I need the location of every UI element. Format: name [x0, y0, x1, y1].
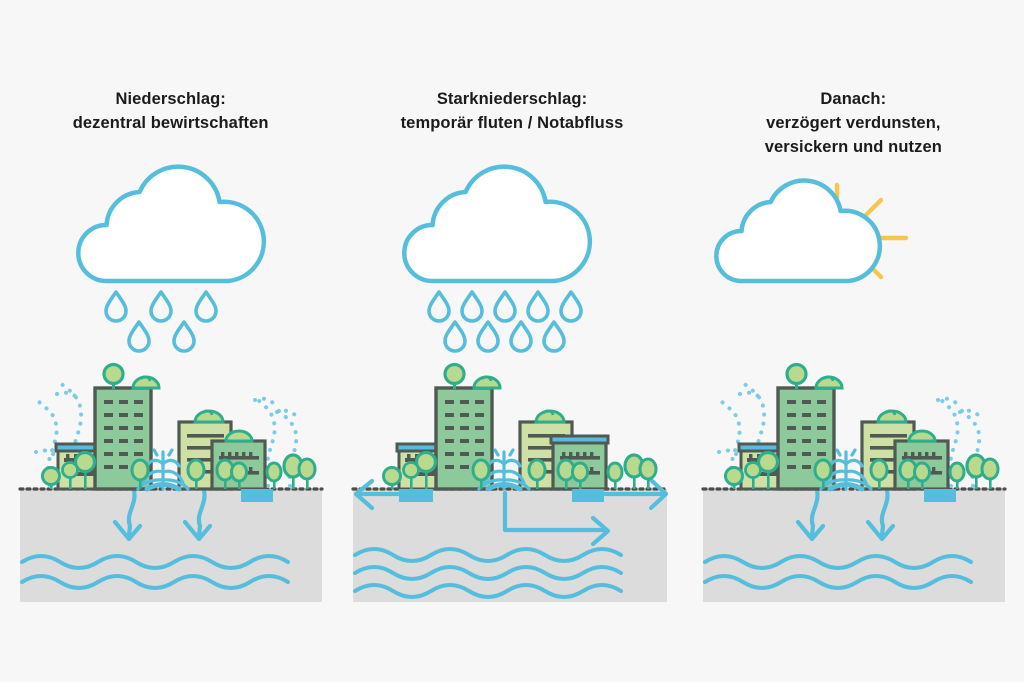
raindrops-top — [106, 292, 216, 321]
scene-precipitation — [0, 0, 341, 682]
rooftop-tree — [104, 364, 123, 388]
rooftop-tree — [445, 364, 464, 388]
heavy-rain-cloud-icon — [405, 167, 591, 281]
raindrops-bottom — [445, 322, 564, 351]
cloud-icon — [716, 181, 880, 281]
tree — [982, 459, 998, 489]
cistern-basin — [924, 489, 956, 502]
flood-basin-left — [399, 489, 433, 502]
scene-svg-2 — [341, 0, 682, 682]
pale-mid-rooftop-bush — [536, 411, 564, 422]
green-right-rooftop-bush — [909, 431, 935, 441]
pale-mid-rooftop-bush — [195, 411, 223, 422]
green-right-rooftop-bush — [226, 431, 252, 441]
scene-svg-1 — [0, 0, 341, 682]
rooftop-tree — [787, 364, 806, 388]
rooftop-bush — [816, 377, 842, 388]
scene-heavy-rain — [341, 0, 682, 682]
cistern-basin — [241, 489, 273, 502]
tree — [608, 463, 622, 489]
rooftop-bush — [474, 377, 500, 388]
flood-basin-right — [572, 489, 604, 502]
rooftop-bush — [133, 377, 159, 388]
pale-mid-rooftop-bush — [878, 411, 906, 422]
panel-row: Niederschlag: dezentral bewirtschaften — [0, 0, 1024, 682]
panel-heavy-rain: Starkniederschlag: temporär fluten / Not… — [341, 0, 682, 682]
raindrops-top — [429, 292, 581, 321]
panel-precipitation: Niederschlag: dezentral bewirtschaften — [0, 0, 341, 682]
panel-after: Danach: verzögert verdunsten, versickern… — [683, 0, 1024, 682]
ground-block — [353, 489, 667, 602]
rain-cloud-icon — [78, 167, 264, 281]
scene-after — [683, 0, 1024, 682]
infographic-board: Niederschlag: dezentral bewirtschaften — [0, 0, 1024, 682]
scene-svg-3 — [683, 0, 1024, 682]
raindrops-bottom — [129, 322, 194, 351]
tree — [299, 459, 315, 489]
